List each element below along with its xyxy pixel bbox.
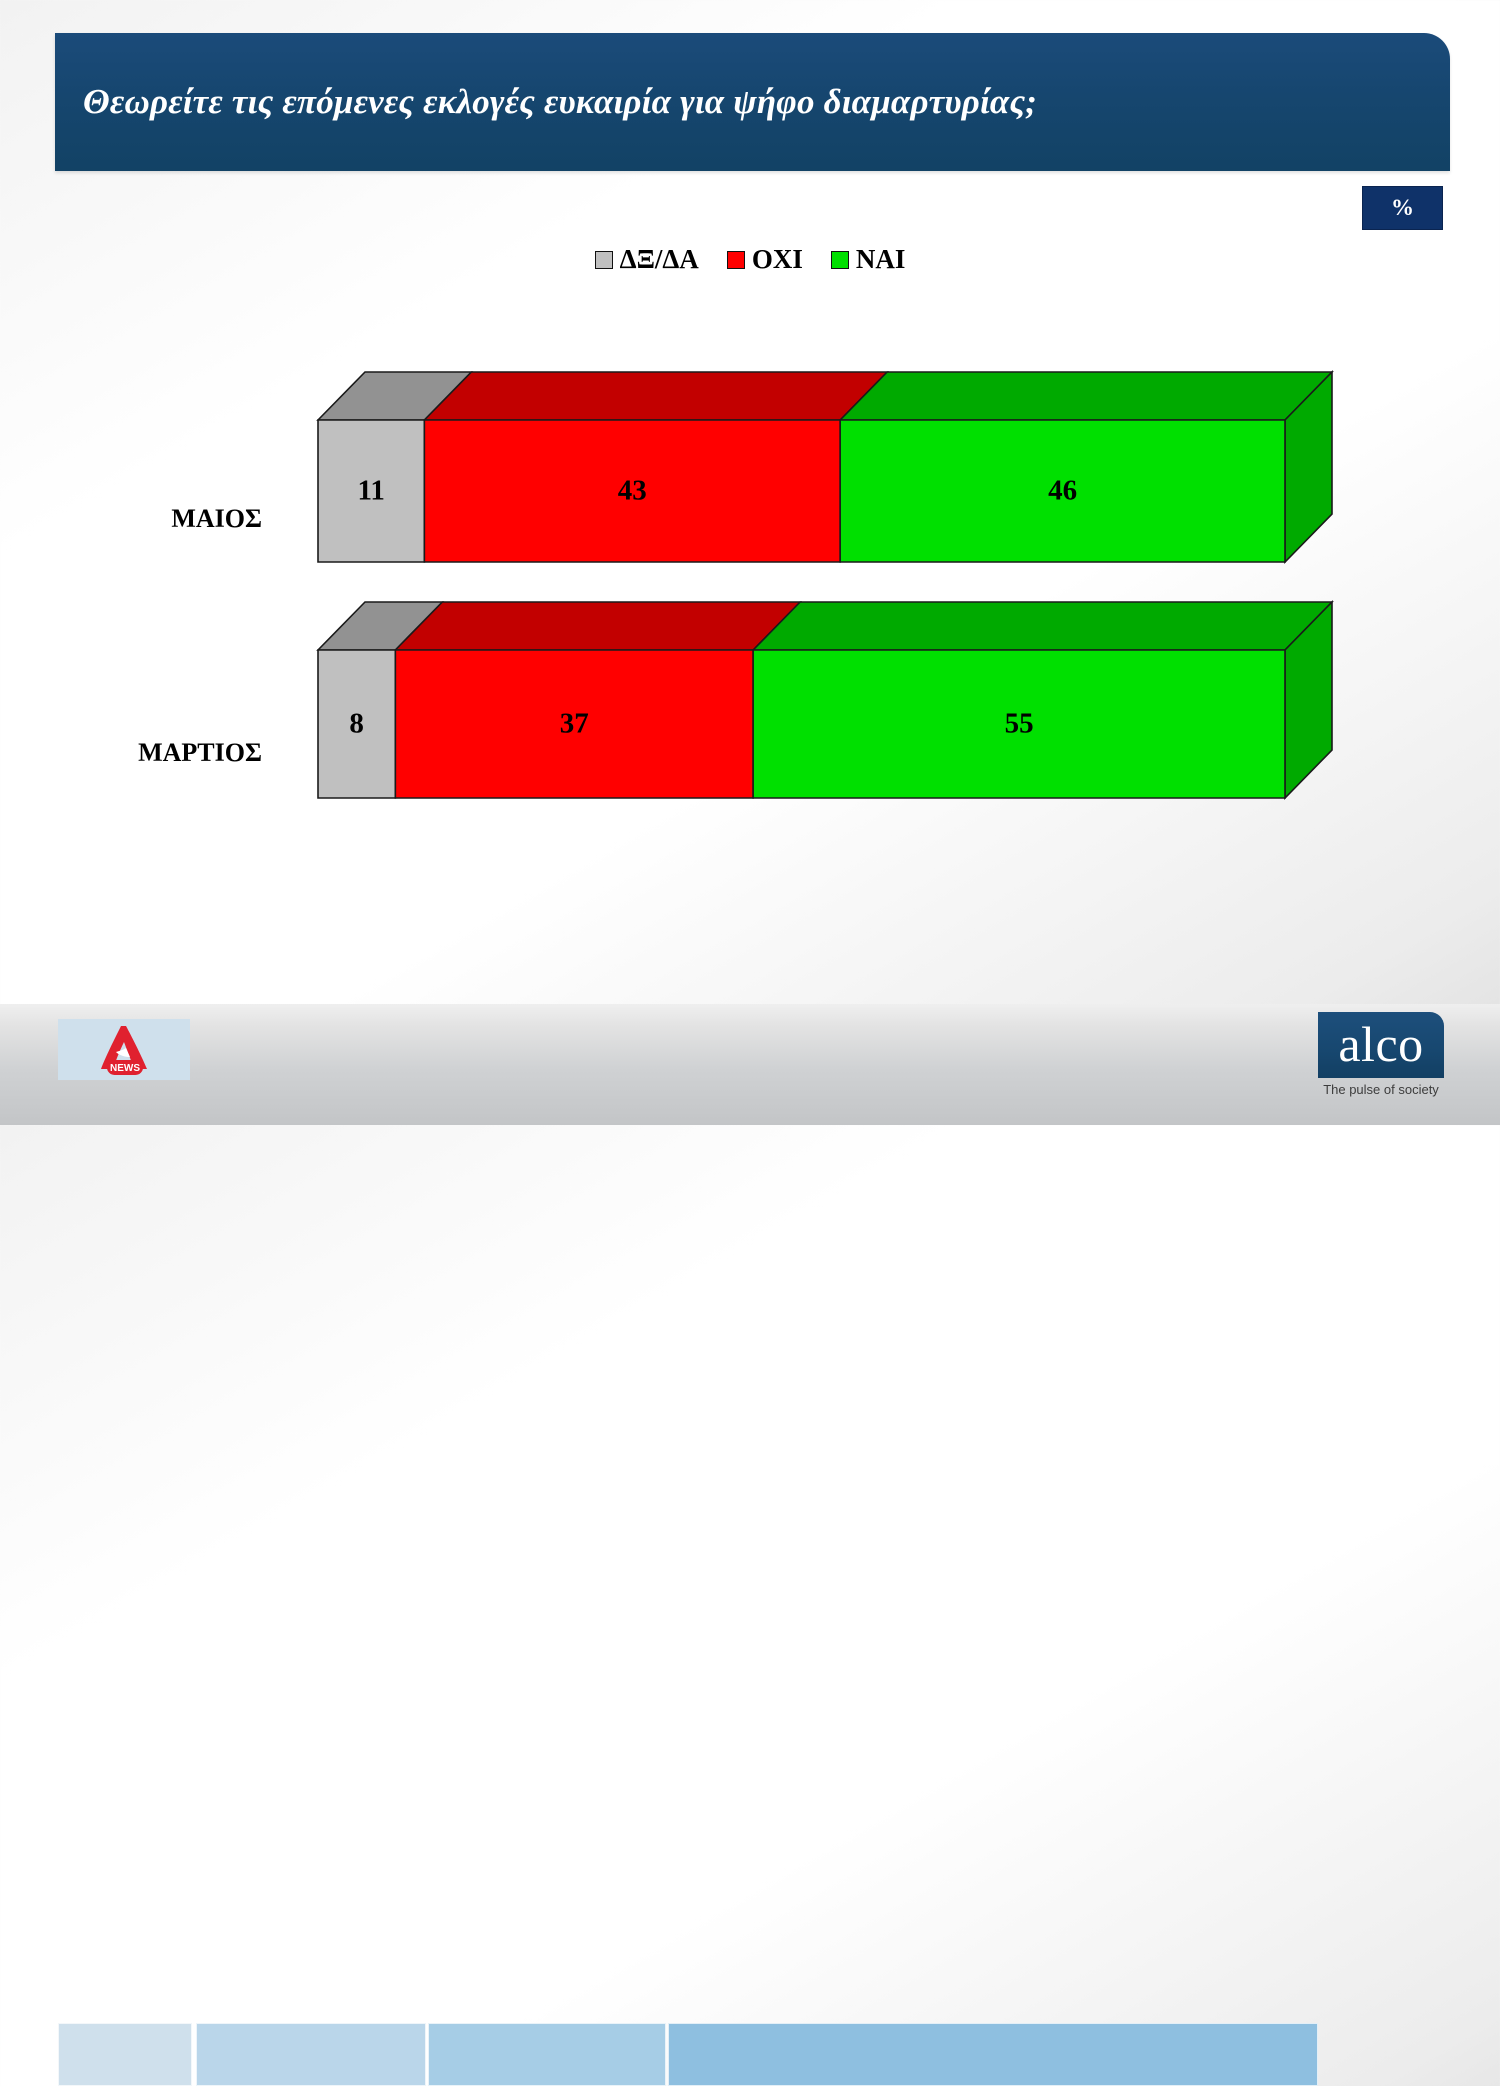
bar-side-face-0	[1285, 372, 1332, 562]
legend-label-oxi: ΟΧΙ	[752, 246, 803, 273]
bar-value-label: 55	[1005, 708, 1034, 741]
footer-tile-1	[58, 2023, 192, 2086]
legend-item-nai: ΝΑΙ	[831, 246, 906, 273]
bar-top-face-0-2	[840, 372, 1332, 420]
bar-value-label: 8	[349, 708, 364, 741]
bar-value-label: 11	[357, 475, 384, 508]
alpha-news-logo: NEWS	[58, 1019, 190, 1080]
legend-label-nai: ΝΑΙ	[856, 246, 906, 273]
bar-top-face-1-1	[395, 602, 800, 650]
bar-top-face-1-2	[753, 602, 1332, 650]
alpha-a-icon: NEWS	[91, 1024, 157, 1076]
alco-wordmark: alco	[1338, 1019, 1423, 1069]
bar-side-face-1	[1285, 602, 1332, 798]
bar-top-face-0-1	[424, 372, 887, 420]
footer-strip	[0, 1004, 1500, 1125]
bar-top-face-0-0	[318, 372, 471, 420]
percent-unit-badge: %	[1362, 186, 1443, 230]
legend-swatch-icon-nai	[831, 251, 849, 269]
footer-tile-3	[428, 2023, 666, 2086]
legend-item-dx-da: ΔΞ/ΔΑ	[595, 246, 699, 273]
bar-value-label: 46	[1048, 475, 1077, 508]
footer-tile-4	[668, 2023, 1318, 2086]
title-banner: Θεωρείτε τις επόμενες εκλογές ευκαιρία γ…	[55, 33, 1450, 171]
legend-swatch-icon-dx-da	[595, 251, 613, 269]
chart-legend: ΔΞ/ΔΑ ΟΧΙ ΝΑΙ	[0, 246, 1500, 273]
bar-value-label: 43	[618, 475, 647, 508]
bar-top-face-1-0	[318, 602, 442, 650]
alco-logo: alco	[1318, 1012, 1444, 1078]
legend-item-oxi: ΟΧΙ	[727, 246, 803, 273]
category-label-martios: ΜΑΡΤΙΟΣ	[80, 738, 262, 768]
alpha-news-wordmark: NEWS	[110, 1063, 140, 1074]
legend-label-dx-da: ΔΞ/ΔΑ	[620, 246, 699, 273]
footer-tile-2	[196, 2023, 426, 2086]
category-label-maios: ΜΑΙΟΣ	[80, 504, 262, 534]
alco-tagline: The pulse of society	[1318, 1082, 1444, 1097]
legend-swatch-icon-oxi	[727, 251, 745, 269]
page-title: Θεωρείτε τις επόμενες εκλογές ευκαιρία γ…	[83, 82, 1037, 122]
bar-value-label: 37	[560, 708, 589, 741]
